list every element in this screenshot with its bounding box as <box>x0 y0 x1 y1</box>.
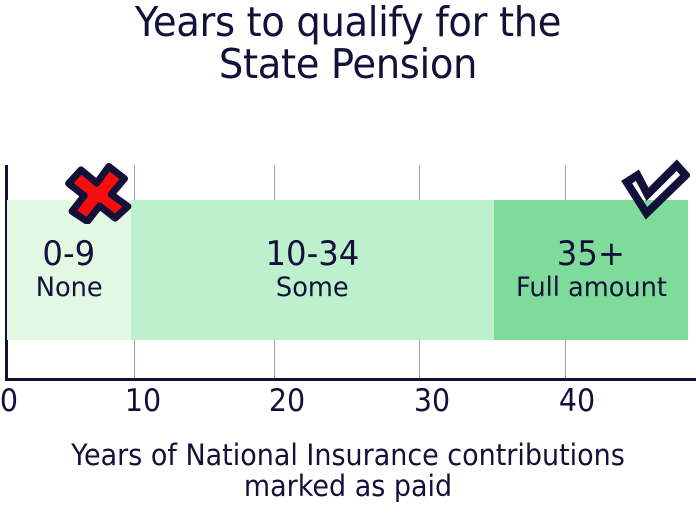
xtick-label-10: 10 <box>125 383 161 419</box>
x-axis-caption-line-2: marked as paid <box>24 471 671 502</box>
xtick-label-0: 0 <box>0 383 18 419</box>
band-none-description: None <box>36 273 103 303</box>
cross-icon <box>64 162 132 228</box>
page-title-line-1: Years to qualify for the <box>21 2 675 44</box>
band-full-range: 35+ <box>557 237 625 273</box>
page-title: Years to qualify for the State Pension <box>0 2 696 86</box>
x-axis-line <box>5 378 696 381</box>
band-some-description: Some <box>276 273 349 303</box>
check-icon <box>618 157 690 227</box>
xtick-label-30: 30 <box>414 383 450 419</box>
page-title-line-2: State Pension <box>21 44 675 86</box>
band-full-description: Full amount <box>516 273 667 303</box>
band-none-range: 0-9 <box>43 237 96 273</box>
xtick-label-20: 20 <box>269 383 305 419</box>
band-some-range: 10-34 <box>266 237 360 273</box>
band-some: 10-34 Some <box>131 200 494 340</box>
x-axis-caption: Years of National Insurance contribution… <box>0 440 696 503</box>
state-pension-chart: 0-9 None 10-34 Some 35+ Full amount 0 10… <box>0 155 696 387</box>
xtick-label-40: 40 <box>559 383 595 419</box>
x-axis-caption-line-1: Years of National Insurance contribution… <box>24 440 671 471</box>
